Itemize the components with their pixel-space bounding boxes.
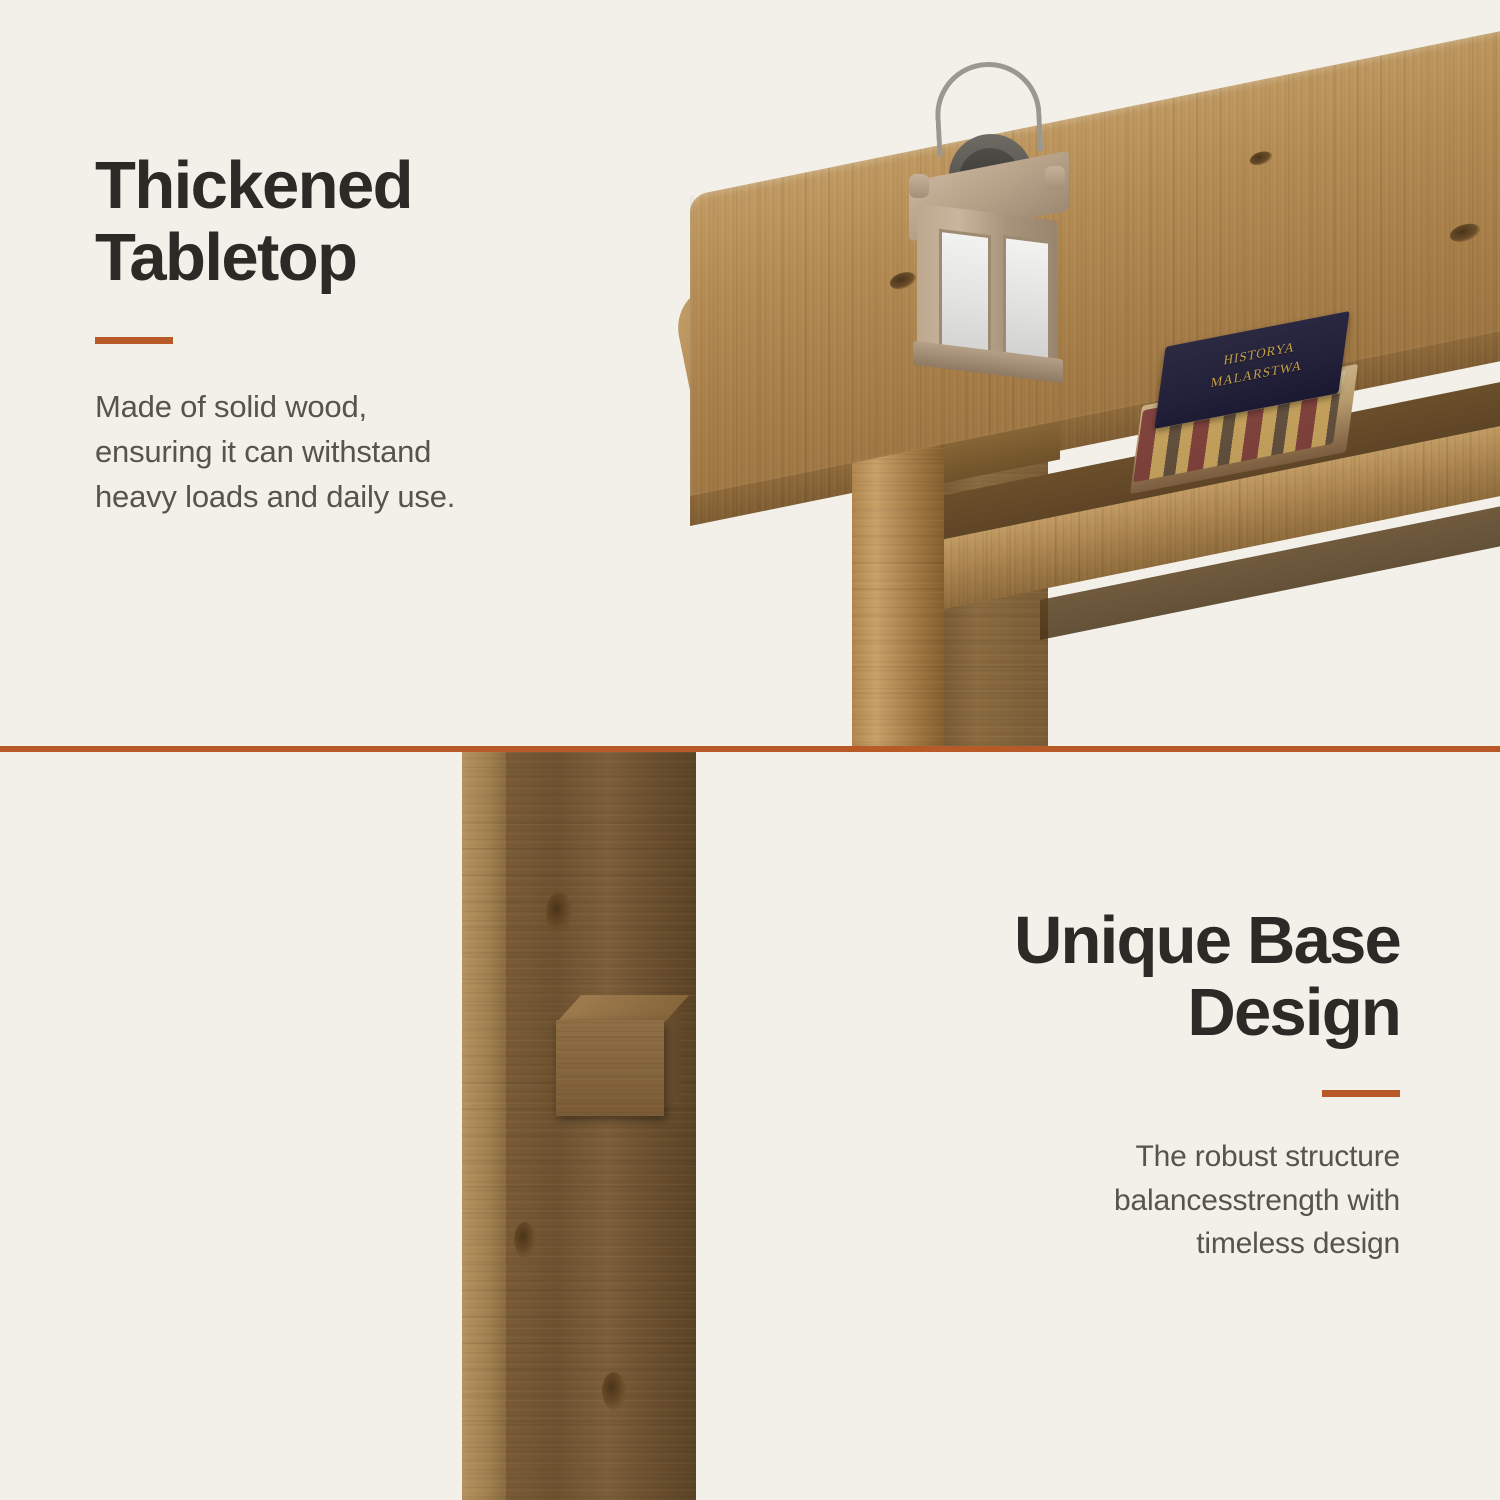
- book-stack: HISTORYA MALARSTWA: [1136, 330, 1386, 500]
- panel-thickened-tabletop: HISTORYA MALARSTWA Thickened Tabletop Ma…: [0, 0, 1500, 746]
- bottom-headline: Unique Base Design: [880, 905, 1400, 1050]
- lantern-corner-knob: [909, 174, 929, 198]
- lantern-glass-panel: [939, 229, 991, 363]
- bottom-body-text: The robust structure balancesstrength wi…: [880, 1135, 1400, 1266]
- wood-grain-texture: [556, 1020, 664, 1116]
- wood-knot: [1250, 150, 1272, 167]
- wood-knot: [546, 892, 572, 934]
- panel-divider-rule: [0, 746, 1500, 752]
- wood-knot: [1450, 221, 1480, 244]
- wood-knot: [602, 1372, 626, 1410]
- wood-knot: [514, 1222, 536, 1258]
- product-feature-poster: HISTORYA MALARSTWA Thickened Tabletop Ma…: [0, 0, 1500, 1500]
- bottom-accent-rule: [1322, 1090, 1400, 1097]
- wood-grain-texture: [852, 424, 944, 746]
- lantern-corner-knob: [1045, 166, 1065, 190]
- bottom-copy-block: Unique Base Design The robust structure …: [880, 905, 1400, 1266]
- post-left-face: [462, 752, 506, 1500]
- trestle-leg-front: [852, 424, 944, 746]
- top-headline: Thickened Tabletop: [95, 150, 655, 295]
- top-copy-block: Thickened Tabletop Made of solid wood, e…: [95, 150, 655, 519]
- lantern-glass-panel: [1003, 235, 1051, 361]
- top-body-text: Made of solid wood, ensuring it can with…: [95, 384, 655, 520]
- lantern: [893, 62, 1083, 372]
- top-accent-rule: [95, 337, 173, 344]
- wood-grain-texture: [462, 752, 506, 1500]
- tenon-block-primary: [556, 1020, 664, 1116]
- panel-unique-base-design: Unique Base Design The robust structure …: [0, 752, 1500, 1500]
